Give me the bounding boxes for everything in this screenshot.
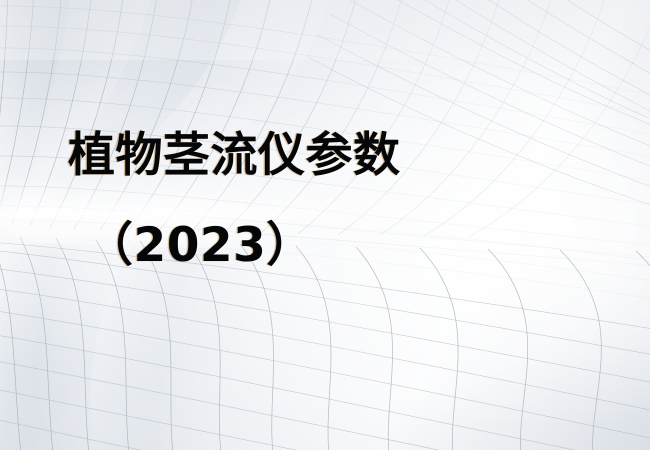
title-slide: 植物茎流仪参数 （2023） bbox=[0, 0, 650, 450]
slide-subtitle-year: （2023） bbox=[86, 222, 314, 269]
slide-text-block: 植物茎流仪参数 （2023） bbox=[0, 0, 650, 450]
slide-title: 植物茎流仪参数 bbox=[68, 132, 401, 179]
